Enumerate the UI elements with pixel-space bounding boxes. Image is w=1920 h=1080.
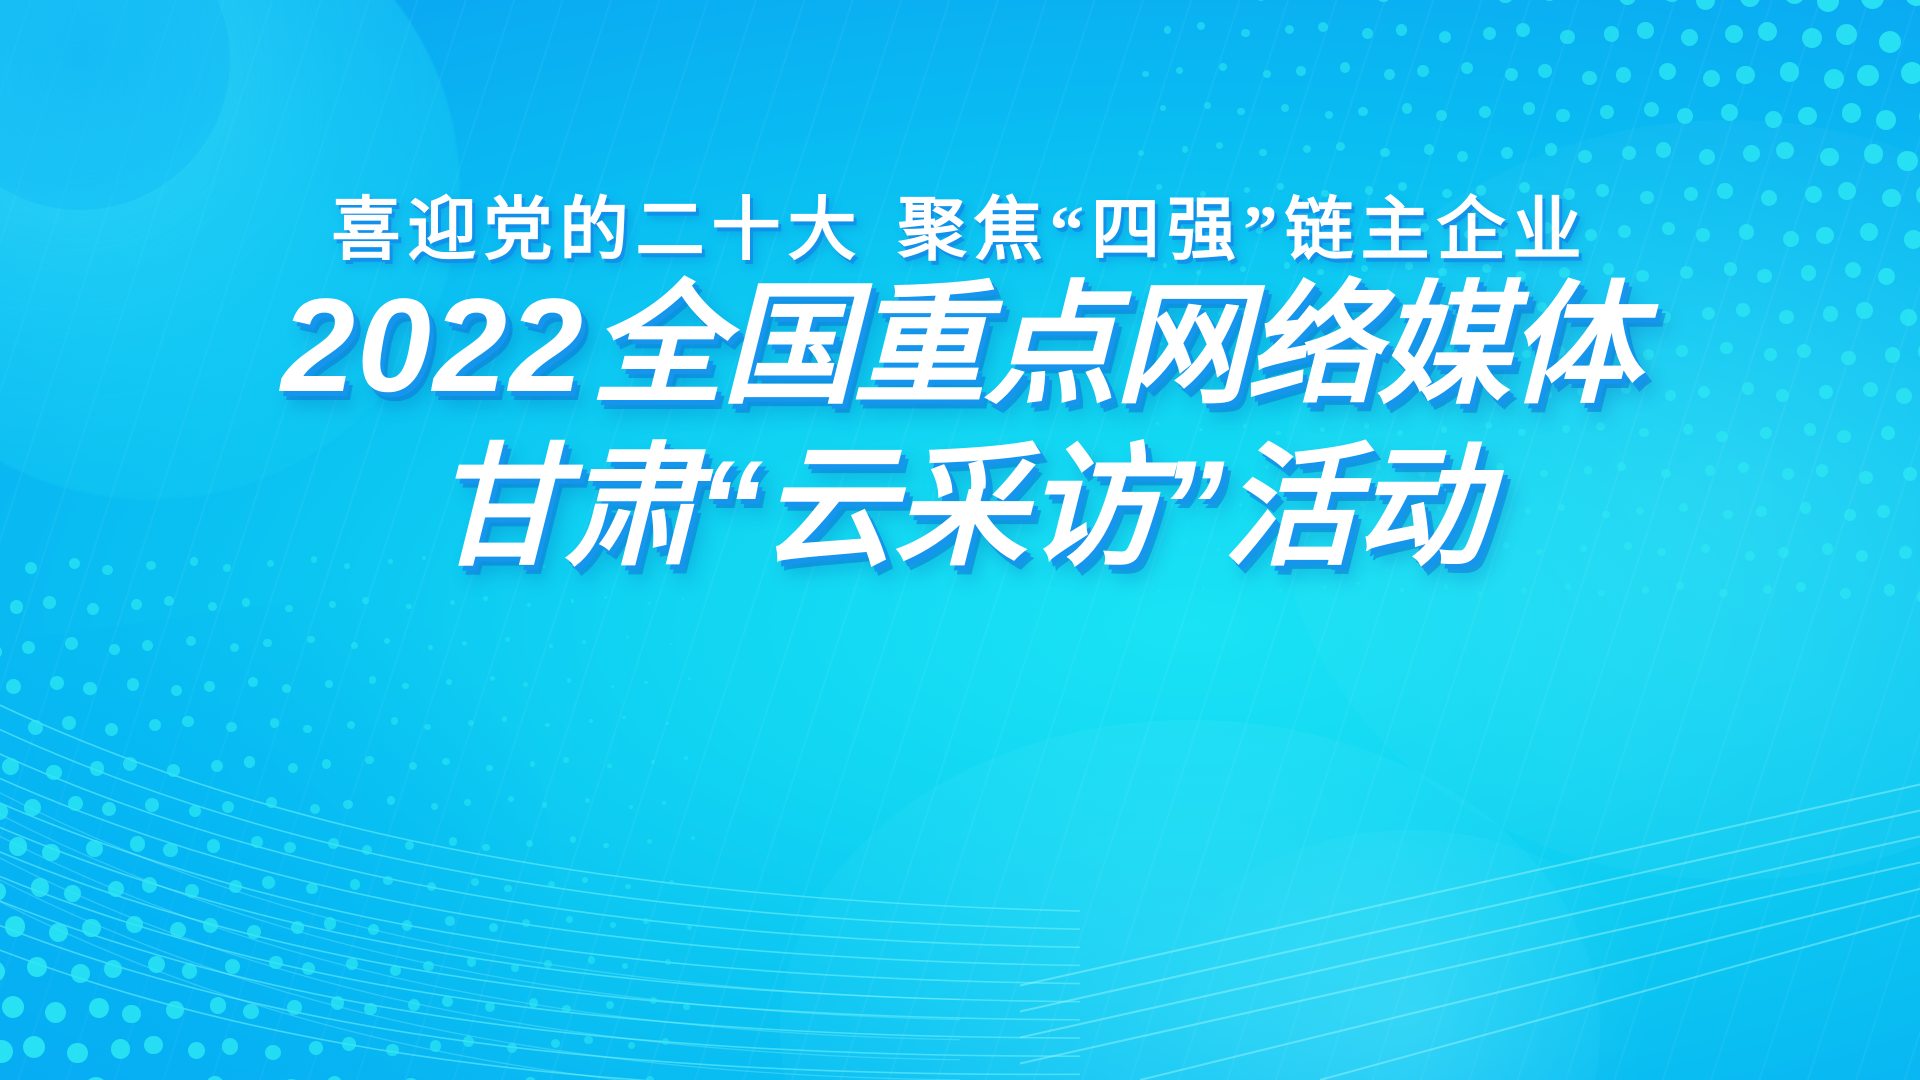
- light-rays-bottom-right: [1020, 660, 1920, 1080]
- title-line-1-text: 全国重点网络媒体: [591, 272, 1639, 420]
- poster-text-block: 喜迎党的二十大聚焦“四强”链主企业 2022全国重点网络媒体 甘肃“云采访”活动: [0, 196, 1920, 576]
- poster-subtitle: 喜迎党的二十大聚焦“四强”链主企业: [0, 196, 1920, 265]
- subtitle-part-1: 喜迎党的二十大: [332, 192, 864, 268]
- glow-bottom-center: [780, 720, 1600, 1080]
- subtitle-part-2: 聚焦“四强”链主企业: [898, 192, 1589, 268]
- poster-title-line-1: 2022全国重点网络媒体: [0, 279, 1920, 415]
- title-year: 2022: [281, 272, 591, 420]
- poster-banner: 喜迎党的二十大聚焦“四强”链主企业 2022全国重点网络媒体 甘肃“云采访”活动: [0, 0, 1920, 1080]
- wave-blob-bottom-left: [0, 570, 601, 1080]
- glow-bottom-right: [1150, 830, 1670, 1080]
- glow-circle-inner-top-left: [0, 0, 230, 210]
- flowing-ribbon-lines: [0, 500, 1080, 1080]
- flowing-ribbon-lines-secondary: [0, 720, 960, 1080]
- poster-title-line-2: 甘肃“云采访”活动: [0, 441, 1920, 577]
